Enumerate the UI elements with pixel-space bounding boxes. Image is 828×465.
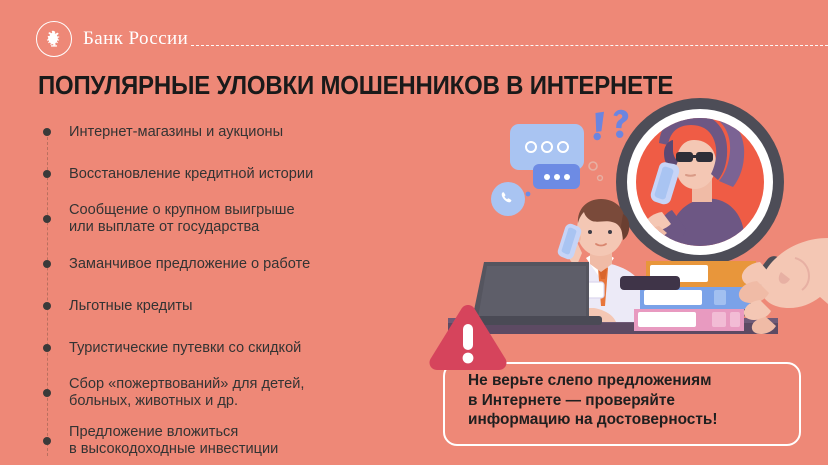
- chat-bubble-icon: [510, 124, 584, 170]
- list-item-label: Сбор «пожертвований» для детей, больных,…: [69, 376, 304, 410]
- list-item: Заманчивое предложение о работе: [40, 250, 420, 278]
- question-mark-icon: [614, 110, 629, 138]
- list-item-label: Сообщение о крупном выигрыше или выплате…: [69, 202, 295, 236]
- bubble-outline-dot-small: [598, 176, 603, 181]
- bullet-dot-icon: [43, 389, 51, 397]
- page-title: ПОПУЛЯРНЫЕ УЛОВКИ МОШЕННИКОВ В ИНТЕРНЕТЕ: [38, 72, 673, 101]
- hand-holding-magnifier-icon: [739, 238, 828, 334]
- list-item-label: Восстановление кредитной истории: [69, 166, 313, 183]
- list-item-label: Туристические путевки со скидкой: [69, 340, 301, 357]
- infographic-poster: Банк России: [0, 0, 828, 465]
- chat-bubble-tail-dot: [526, 192, 531, 197]
- list-item-label: Интернет-магазины и аукционы: [69, 124, 283, 141]
- list-item-label: Льготные кредиты: [69, 298, 193, 315]
- phone-call-icon: [491, 182, 525, 216]
- list-item: Предложение вложиться в высокодоходные и…: [40, 424, 420, 458]
- bullet-dot-icon: [43, 260, 51, 268]
- tricks-list: Интернет-магазины и аукционы Восстановле…: [40, 118, 420, 465]
- list-item-label: Предложение вложиться в высокодоходные и…: [69, 424, 278, 458]
- bullet-dot-icon: [43, 437, 51, 445]
- chat-bubble-small-icon: [533, 164, 580, 189]
- list-item: Льготные кредиты: [40, 292, 420, 320]
- exclamation-mark-icon: [594, 112, 605, 140]
- bullet-dot-icon: [43, 128, 51, 136]
- list-item: Сбор «пожертвований» для детей, больных,…: [40, 376, 420, 410]
- list-item-label: Заманчивое предложение о работе: [69, 256, 310, 273]
- bullet-dot-icon: [43, 302, 51, 310]
- list-item: Интернет-магазины и аукционы: [40, 118, 420, 146]
- bullet-dot-icon: [43, 170, 51, 178]
- bullet-dot-icon: [43, 344, 51, 352]
- list-item: Сообщение о крупном выигрыше или выплате…: [40, 202, 420, 236]
- warning-triangle-icon: [426, 302, 510, 378]
- warning-callout-text: Не верьте слепо предложениям в Интернете…: [468, 371, 798, 430]
- list-item: Восстановление кредитной истории: [40, 160, 420, 188]
- list-item: Туристические путевки со скидкой: [40, 334, 420, 362]
- bullet-dot-icon: [43, 215, 51, 223]
- bubble-outline-dot: [589, 162, 597, 170]
- book-stack-icon: [620, 261, 756, 331]
